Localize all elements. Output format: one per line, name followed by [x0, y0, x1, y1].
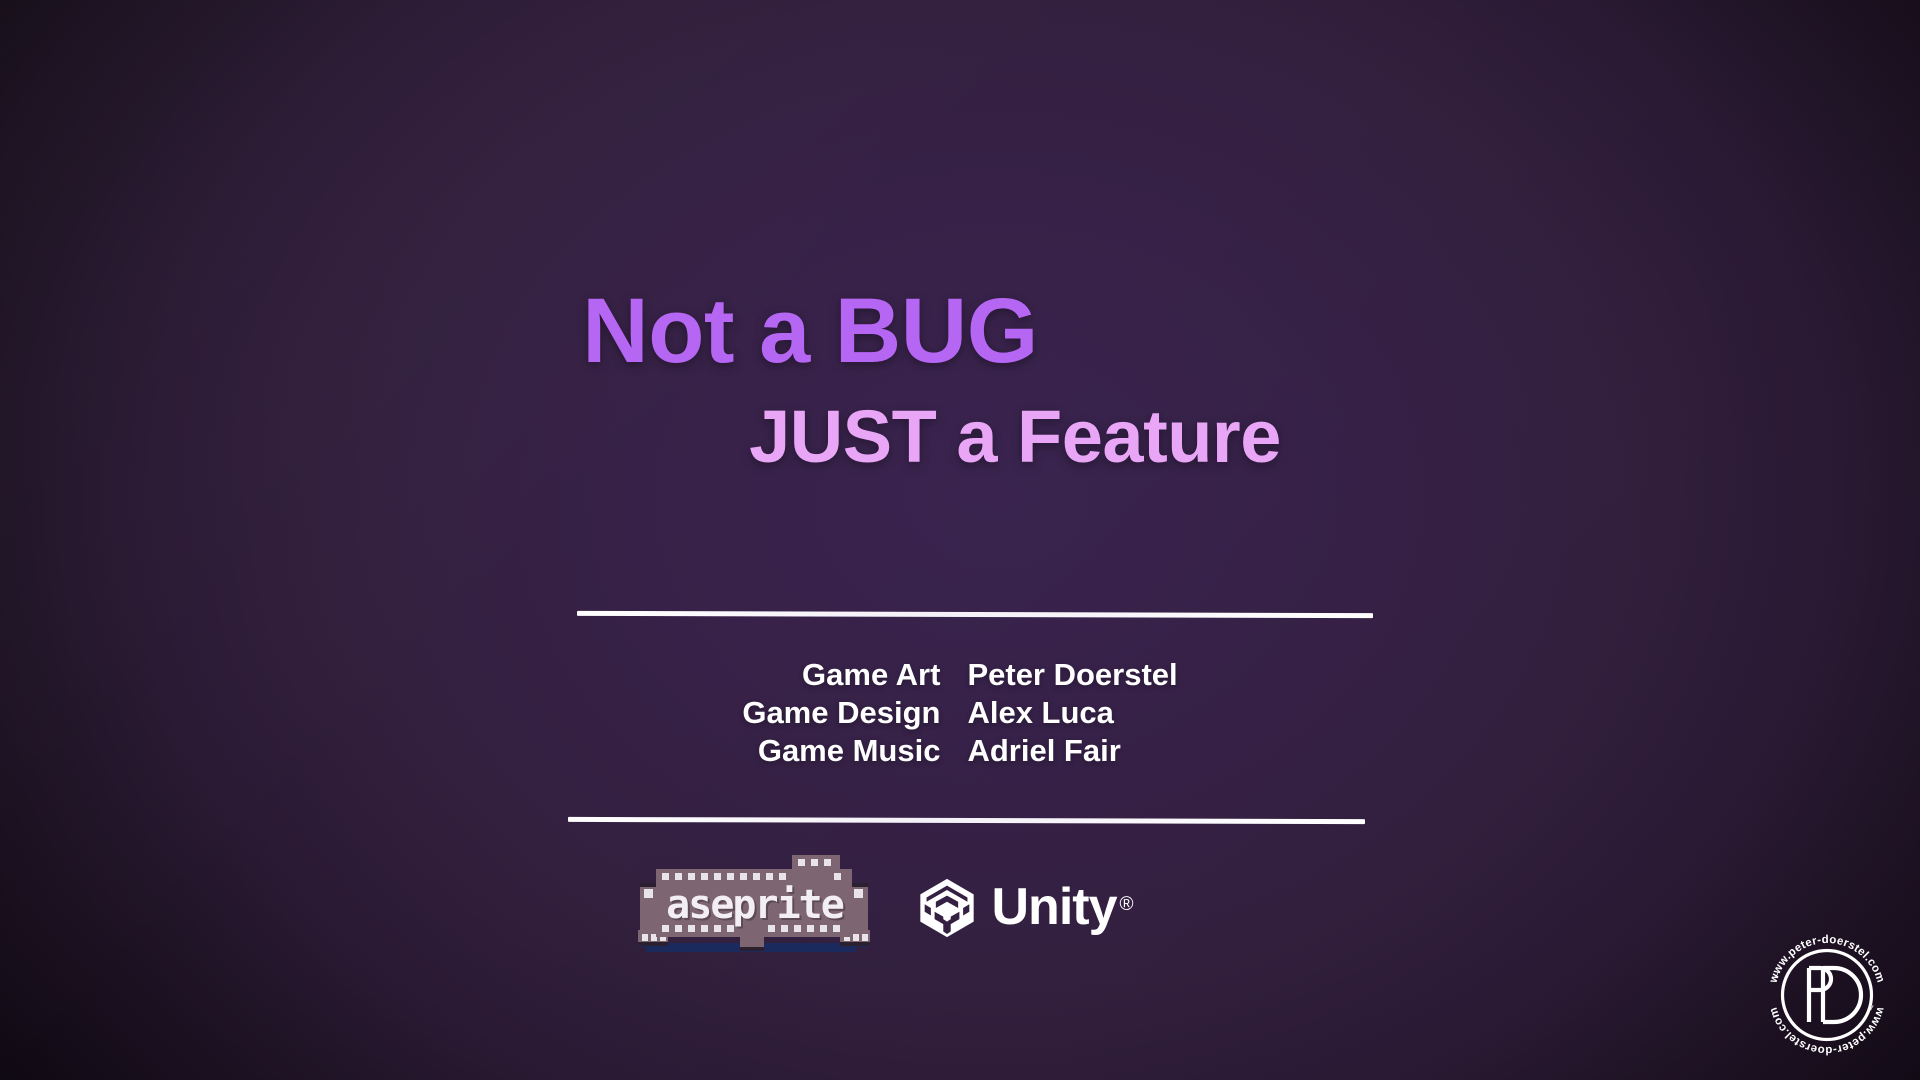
credit-role-label: Game Design: [742, 694, 967, 732]
aseprite-wordmark: aseprite: [664, 881, 846, 929]
unity-wordmark-text: Unity: [992, 878, 1117, 936]
table-row: Game Design Alex Luca: [742, 694, 1177, 732]
credit-role-label: Game Music: [742, 732, 967, 770]
credit-role-label: Game Art: [742, 656, 967, 694]
table-row: Game Music Adriel Fair: [742, 732, 1177, 770]
aseprite-logo-icon: aseprite: [638, 855, 870, 960]
slide-title-primary: Not a BUG: [0, 285, 1770, 377]
watermark-ring: [1783, 951, 1872, 1040]
credits-table: Game Art Peter Doerstel Game Design Alex…: [742, 656, 1177, 770]
tool-logos-row: aseprite Unity®: [0, 855, 1845, 960]
registered-trademark-icon: ®: [1120, 894, 1133, 915]
presentation-slide: Not a BUG JUST a Feature Game Art Peter …: [0, 0, 1920, 1080]
unity-cube-icon: [916, 877, 978, 939]
unity-wordmark: Unity®: [992, 881, 1133, 933]
credit-name-value: Peter Doerstel: [967, 656, 1177, 694]
credit-name-value: Adriel Fair: [967, 732, 1177, 770]
slide-title-secondary: JUST a Feature: [55, 400, 1920, 474]
table-row: Game Art Peter Doerstel: [742, 656, 1177, 694]
watermark-monogram: [1809, 968, 1861, 1022]
credit-name-value: Alex Luca: [967, 694, 1177, 732]
watermark-logo: www.peter-doerstel.com www.peter-doerste…: [1752, 920, 1902, 1070]
unity-logo-group: Unity®: [916, 875, 1133, 941]
credits-block: Game Art Peter Doerstel Game Design Alex…: [0, 656, 1920, 770]
